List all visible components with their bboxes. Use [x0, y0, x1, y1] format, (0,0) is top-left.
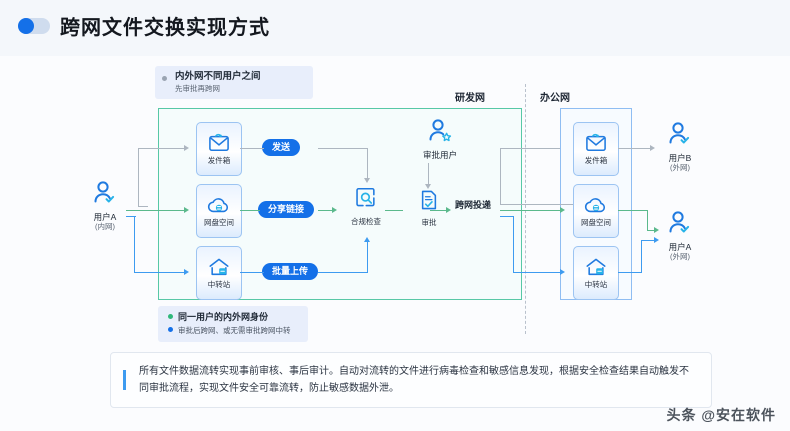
- note-chip-title: 内外网不同用户之间: [175, 71, 303, 83]
- connector-relay-usera-up: [641, 240, 642, 273]
- connector-send-right: [318, 148, 368, 149]
- arrow-relay-to-usera: [654, 237, 659, 243]
- arrow-batch-into-check: [364, 237, 370, 242]
- footer-description: 所有文件数据流转实现事前审核、事后审计。自动对流转的文件进行病毒检查和敏感信息发…: [139, 363, 695, 397]
- connector-relay-batch: [240, 272, 264, 273]
- arrow-outer-clouddisk: [560, 207, 565, 213]
- cloud-disk-icon: [584, 195, 608, 215]
- watermark: 头条 @安在软件: [666, 405, 776, 425]
- page-root: 跨网文件交换实现方式 研发网 办公网 内外网不同用户之间 先审批再跨网 同一用户…: [0, 0, 790, 431]
- connector-delivery-relay-down: [513, 216, 514, 272]
- arrow-to-userb: [650, 145, 655, 151]
- source-user-node[interactable]: 用户A (内网): [75, 181, 135, 231]
- legend-green-dot-icon: [168, 314, 173, 319]
- connector-outer-outbox-in: [500, 148, 560, 149]
- note-bullet-icon: [162, 76, 167, 81]
- envelope-icon: [208, 133, 230, 153]
- source-user-name: 用户A: [94, 212, 117, 222]
- arrow-to-delivery: [446, 207, 451, 213]
- target-user-b-name: 用户B: [669, 153, 692, 163]
- legend-blue-dot-icon: [168, 327, 173, 332]
- network-divider: [525, 84, 526, 334]
- pill-share-link[interactable]: 分享链接: [258, 201, 314, 218]
- connector-bus-relay-top: [126, 216, 136, 217]
- connector-clouddisk-share: [240, 210, 260, 211]
- approval-doc-icon: [419, 189, 439, 216]
- arrow-to-outbox: [184, 145, 189, 151]
- inner-node-outbox[interactable]: 发件箱: [196, 122, 242, 176]
- footer-accent-bar: [123, 370, 126, 390]
- page-title: 跨网文件交换实现方式: [60, 11, 270, 40]
- connector-relay-usera: [618, 272, 642, 273]
- arrow-to-clouddisk: [184, 207, 189, 213]
- user-a-internal-icon: [92, 181, 118, 210]
- step-compliance-check-label: 合规检查: [351, 217, 381, 227]
- outer-node-outbox-label: 发件箱: [585, 156, 608, 165]
- relay-station-icon: [207, 257, 231, 277]
- footer-note: 所有文件数据流转实现事前审核、事后审计。自动对流转的文件进行病毒检查和敏感信息发…: [110, 352, 712, 408]
- note-chip-subtitle: 先审批再跨网: [175, 83, 303, 94]
- connector-clouddisk-usera: [618, 210, 648, 211]
- cross-network-delivery-label: 跨网投递: [455, 198, 491, 211]
- step-compliance-check[interactable]: 合规检查: [339, 186, 393, 227]
- connector-send-down: [367, 148, 368, 178]
- approver-label: 审批用户: [423, 150, 457, 160]
- inner-node-clouddisk-label: 网盘空间: [204, 218, 234, 227]
- target-user-a-node[interactable]: 用户A (外网): [650, 211, 710, 261]
- inner-node-relay-label: 中转站: [208, 280, 231, 289]
- arrow-clouddisk-to-usera: [654, 227, 659, 233]
- arrow-outer-relay: [560, 269, 565, 275]
- arrow-approver-into-approval: [425, 184, 431, 189]
- connector-outbox-userb: [618, 148, 652, 149]
- connector-approver-down: [428, 163, 429, 185]
- arrow-to-relay: [184, 269, 189, 275]
- connector-delivery-outbox: [500, 204, 573, 205]
- connector-batch-up: [367, 242, 368, 273]
- user-a-external-icon: [667, 211, 693, 240]
- connector-to-relay: [134, 272, 184, 273]
- target-user-a-scope: (外网): [670, 252, 690, 261]
- step-approval-label: 审批: [422, 218, 437, 228]
- cloud-disk-icon: [207, 195, 231, 215]
- diagram-canvas: 研发网 办公网 内外网不同用户之间 先审批再跨网 同一用户的内外网身份 审批后跨…: [0, 56, 790, 346]
- approver-user-icon: [427, 119, 453, 148]
- connector-bus-relay: [134, 216, 135, 272]
- connector-delivery-outbox-up: [500, 148, 501, 205]
- connector-outbox-send: [240, 148, 264, 149]
- connector-bus-outbox: [138, 148, 139, 206]
- connector-bus-top: [138, 206, 148, 207]
- outer-node-outbox[interactable]: 发件箱: [573, 122, 619, 176]
- header-dot-icon: [18, 18, 50, 34]
- connector-batch-right: [318, 272, 368, 273]
- connector-to-outbox: [138, 148, 184, 149]
- legend-row-green: 同一用户的内外网身份: [178, 310, 296, 323]
- legend-row-blue: 审批后跨网、或无需审批跨网中转: [178, 323, 296, 337]
- inner-node-outbox-label: 发件箱: [208, 156, 231, 165]
- outer-node-relay-label: 中转站: [585, 280, 608, 289]
- compliance-search-icon: [354, 186, 378, 215]
- zone-label-office: 办公网: [540, 89, 570, 104]
- inner-node-relay[interactable]: 中转站: [196, 246, 242, 300]
- outer-node-relay[interactable]: 中转站: [573, 246, 619, 300]
- connector-check-approval: [385, 210, 403, 211]
- connector-delivery-relay: [500, 216, 514, 217]
- relay-station-icon: [584, 257, 608, 277]
- connector-delivery-clouddisk: [500, 210, 560, 211]
- source-user-scope: (内网): [95, 222, 115, 231]
- legend-blue-label: 审批后跨网、或无需审批跨网中转: [178, 326, 291, 335]
- zone-label-rnd: 研发网: [455, 89, 485, 104]
- arrow-share-into-check: [332, 207, 337, 213]
- outer-node-clouddisk-label: 网盘空间: [581, 218, 611, 227]
- legend-green-label: 同一用户的内外网身份: [178, 312, 268, 322]
- connector-clouddisk-usera-down: [647, 210, 648, 230]
- connector-relay-usera-in: [641, 240, 655, 241]
- page-header: 跨网文件交换实现方式: [0, 0, 790, 56]
- pill-send[interactable]: 发送: [262, 139, 300, 156]
- user-b-external-icon: [667, 122, 693, 151]
- note-chip: 内外网不同用户之间 先审批再跨网: [155, 66, 313, 99]
- connector-outer-relay-in: [513, 272, 561, 273]
- target-user-b-scope: (外网): [670, 163, 690, 172]
- connector-share-right: [318, 210, 332, 211]
- target-user-a-name: 用户A: [669, 242, 692, 252]
- connector-to-clouddisk: [126, 210, 184, 211]
- approver-node[interactable]: 审批用户: [410, 119, 470, 160]
- target-user-b-node[interactable]: 用户B (外网): [650, 122, 710, 172]
- inner-node-clouddisk[interactable]: 网盘空间: [196, 184, 242, 238]
- envelope-icon: [585, 133, 607, 153]
- arrow-send-into-check: [364, 178, 370, 183]
- pill-batch-upload[interactable]: 批量上传: [262, 263, 318, 280]
- outer-node-clouddisk[interactable]: 网盘空间: [573, 184, 619, 238]
- legend-box: 同一用户的内外网身份 审批后跨网、或无需审批跨网中转: [158, 306, 308, 342]
